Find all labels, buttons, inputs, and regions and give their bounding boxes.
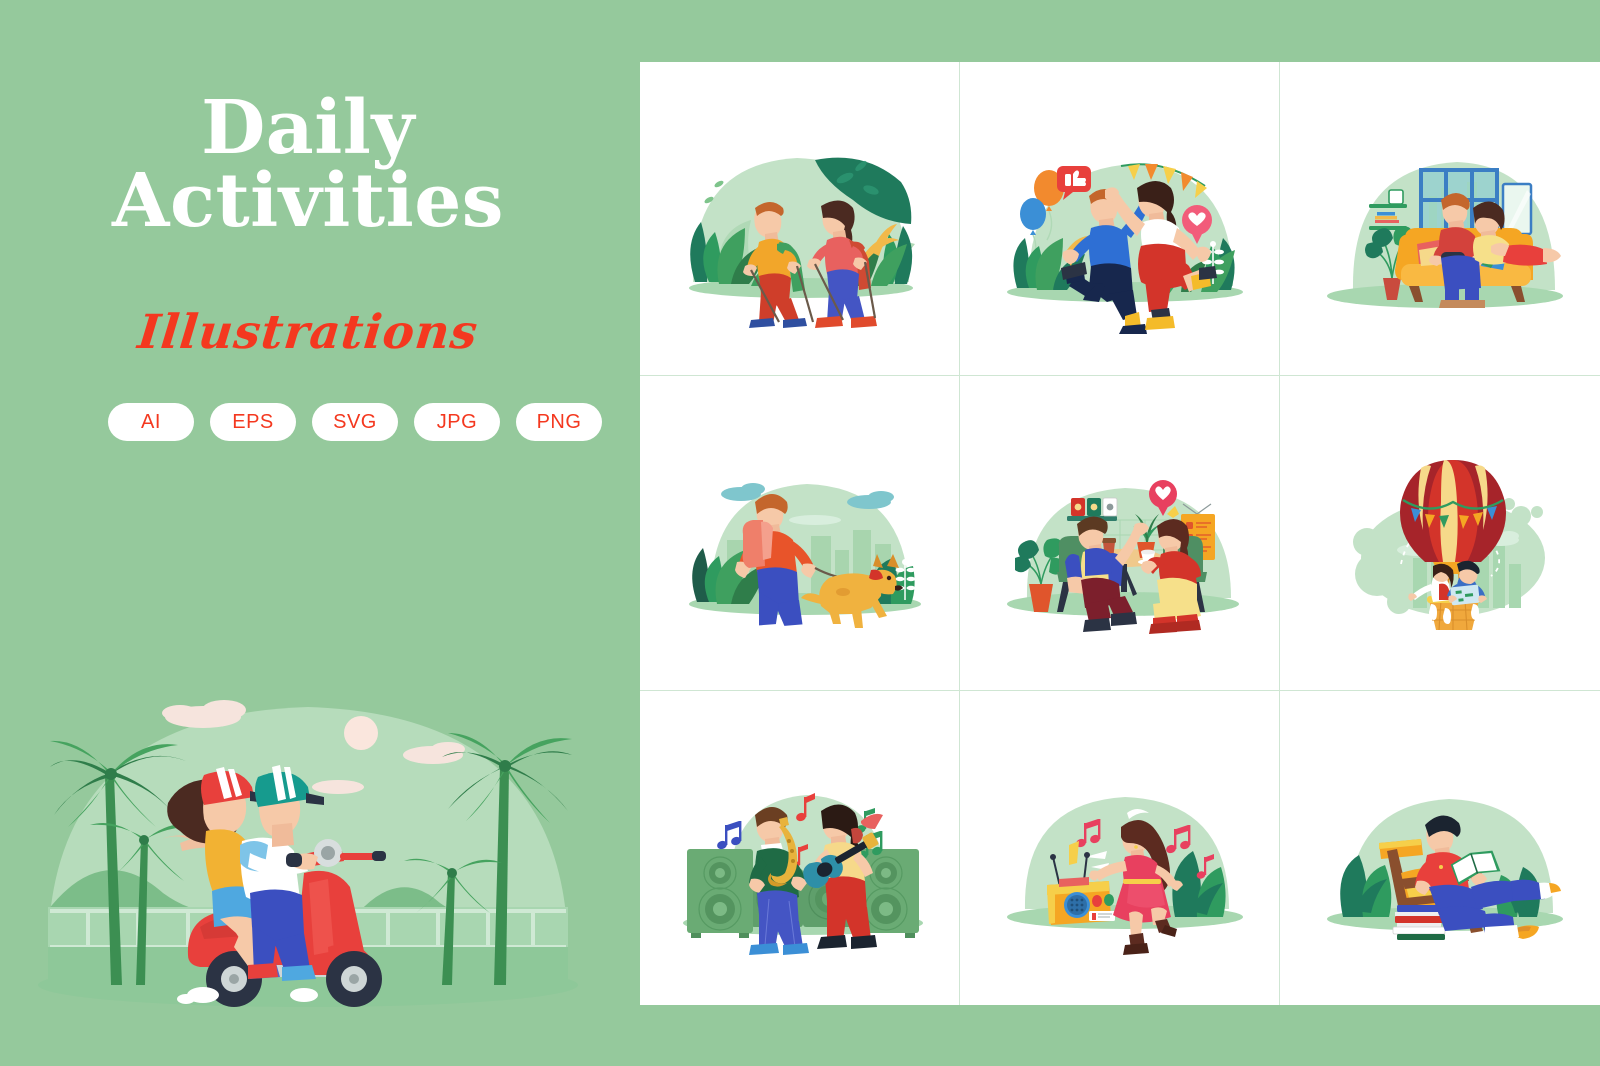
page-title: Daily Activities: [0, 92, 616, 237]
grid-cell-coffee-date[interactable]: Coffee Shop Date: [960, 376, 1280, 690]
illustration-grid: Hiking / Trekking Couple: [640, 62, 1600, 1005]
grid-cell-celebrating-party[interactable]: Celebrating Couple: [960, 62, 1280, 376]
title-line-2: Activities: [0, 165, 616, 238]
left-panel: Daily Activities Illustrations AI EPS SV…: [0, 0, 616, 1066]
grid-cell-relaxing-at-home[interactable]: Couple Relaxing on Sofa: [1280, 62, 1600, 376]
format-badge-svg[interactable]: SVG: [312, 403, 398, 441]
grid-cell-playing-music[interactable]: Playing Music: [640, 691, 960, 1005]
format-badge-eps[interactable]: EPS: [210, 403, 296, 441]
subtitle: Illustrations: [0, 305, 619, 360]
title-line-1: Daily: [0, 92, 616, 165]
grid-cell-walking-the-dog[interactable]: Walking the Dog: [640, 376, 960, 690]
grid-cell-hiking-trekking[interactable]: Hiking / Trekking Couple: [640, 62, 960, 376]
grid-cell-dancing-to-radio[interactable]: Dancing to the Radio: [960, 691, 1280, 1005]
hero-illustration-couple-riding-scooter: [28, 655, 588, 1010]
format-badge-list: AI EPS SVG JPG PNG: [108, 403, 602, 441]
format-badge-ai[interactable]: AI: [108, 403, 194, 441]
grid-cell-hot-air-balloon[interactable]: Hot Air Balloon Ride: [1280, 376, 1600, 690]
grid-cell-reading-book[interactable]: Reading a Book Outdoors: [1280, 691, 1600, 1005]
format-badge-jpg[interactable]: JPG: [414, 403, 500, 441]
poster-canvas: Daily Activities Illustrations AI EPS SV…: [0, 0, 1600, 1066]
format-badge-png[interactable]: PNG: [516, 403, 602, 441]
